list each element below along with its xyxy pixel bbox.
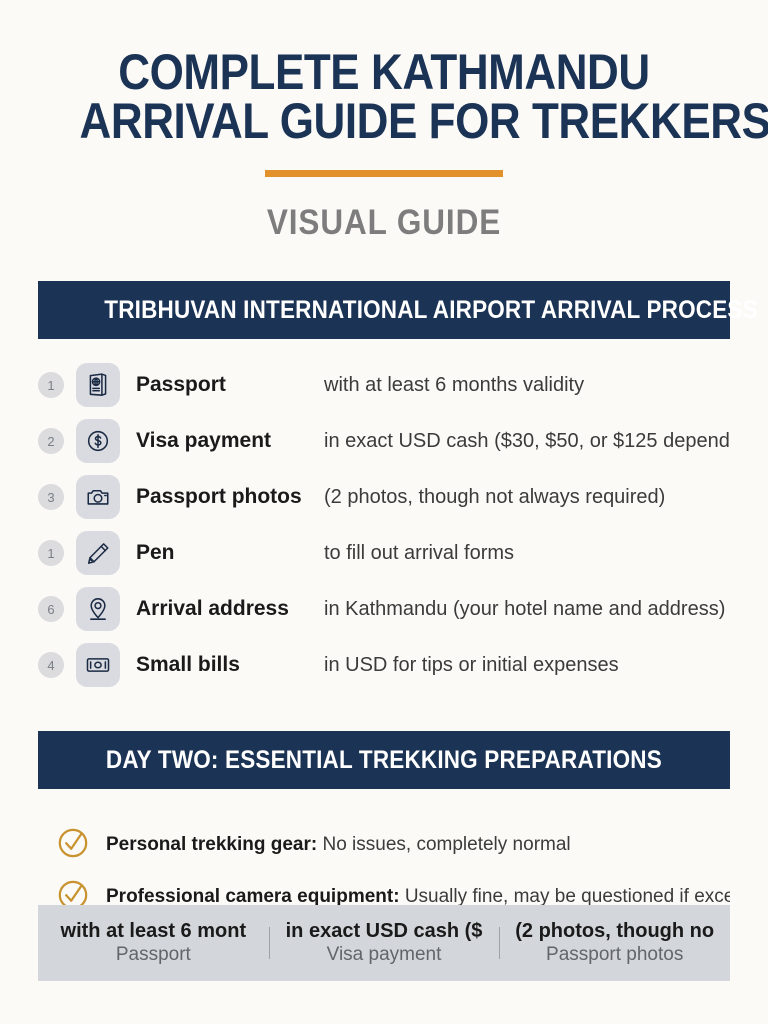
item-description: (2 photos, though not always required) xyxy=(324,486,730,509)
list-item[interactable]: 6 Arrival address in Kathmandu (your hot… xyxy=(38,581,730,637)
footer-stat-cell: (2 photos, though no Passport photos xyxy=(499,919,730,967)
page-title-line-2: ARRIVAL GUIDE FOR TREKKERS xyxy=(80,97,689,146)
page-title-line-1: COMPLETE KATHMANDU xyxy=(80,48,689,97)
footer-stat-label: Passport xyxy=(46,943,261,967)
list-item[interactable]: 1 Pen to fill out arrival forms xyxy=(38,525,730,581)
footer-stat-value: (2 photos, though no xyxy=(507,919,722,943)
pen-icon xyxy=(76,531,120,575)
footer-stat-label: Passport photos xyxy=(507,943,722,967)
list-item[interactable]: 3 Passport photos (2 photos, though not … xyxy=(38,469,730,525)
section-header-arrival-process: TRIBHUVAN INTERNATIONAL AIRPORT ARRIVAL … xyxy=(38,281,730,339)
item-label: Passport xyxy=(136,373,324,397)
gold-divider xyxy=(265,170,503,177)
item-number-badge: 1 xyxy=(38,540,64,566)
item-label: Small bills xyxy=(136,653,324,677)
item-number-badge: 1 xyxy=(38,372,64,398)
footer-stat-cell: with at least 6 mont Passport xyxy=(38,919,269,967)
item-label: Passport photos xyxy=(136,485,324,509)
footer-stat-cell: in exact USD cash ($ Visa payment xyxy=(269,919,500,967)
item-description: to fill out arrival forms xyxy=(324,542,730,565)
page-subtitle: VISUAL GUIDE xyxy=(73,203,696,243)
item-description: in exact USD cash ($30, $50, or $125 dep… xyxy=(324,430,730,453)
check-circle-icon xyxy=(56,826,90,865)
check-item-detail: Usually fine, may be questioned if exces xyxy=(400,886,730,907)
item-number-badge: 3 xyxy=(38,484,64,510)
footer-stat-value: with at least 6 mont xyxy=(46,919,261,943)
dollar-coin-icon xyxy=(76,419,120,463)
item-description: with at least 6 months validity xyxy=(324,374,730,397)
check-item-text: Personal trekking gear: No issues, compl… xyxy=(106,834,571,856)
check-item-detail: No issues, completely normal xyxy=(317,834,570,855)
footer-stat-value: in exact USD cash ($ xyxy=(277,919,492,943)
arrival-checklist: 1 Passport with at least 6 months validi… xyxy=(38,357,730,693)
page-title: COMPLETE KATHMANDU ARRIVAL GUIDE FOR TRE… xyxy=(80,48,689,146)
footer-stat-label: Visa payment xyxy=(277,943,492,967)
banknote-icon xyxy=(76,643,120,687)
item-label: Visa payment xyxy=(136,429,324,453)
title-block: COMPLETE KATHMANDU ARRIVAL GUIDE FOR TRE… xyxy=(38,0,730,243)
infographic-poster: COMPLETE KATHMANDU ARRIVAL GUIDE FOR TRE… xyxy=(0,0,768,1024)
passport-icon xyxy=(76,363,120,407)
check-item-term: Professional camera equipment: xyxy=(106,886,400,907)
camera-icon xyxy=(76,475,120,519)
item-description: in USD for tips or initial expenses xyxy=(324,654,730,677)
item-number-badge: 4 xyxy=(38,652,64,678)
item-description: in Kathmandu (your hotel name and addres… xyxy=(324,598,730,621)
item-number-badge: 6 xyxy=(38,596,64,622)
list-item[interactable]: 4 Small bills in USD for tips or initial… xyxy=(38,637,730,693)
section-header-arrival-process-label: TRIBHUVAN INTERNATIONAL AIRPORT ARRIVAL … xyxy=(104,296,757,325)
check-item-term: Personal trekking gear: xyxy=(106,834,317,855)
footer-summary-bar: with at least 6 mont Passport in exact U… xyxy=(38,905,730,981)
item-label: Arrival address xyxy=(136,597,324,621)
list-item[interactable]: Personal trekking gear: No issues, compl… xyxy=(38,819,730,871)
section-header-day-two: DAY TWO: ESSENTIAL TREKKING PREPARATIONS xyxy=(38,731,730,789)
item-number-badge: 2 xyxy=(38,428,64,454)
item-label: Pen xyxy=(136,541,324,565)
location-pin-icon xyxy=(76,587,120,631)
section-header-day-two-label: DAY TWO: ESSENTIAL TREKKING PREPARATIONS xyxy=(106,746,662,775)
list-item[interactable]: 1 Passport with at least 6 months validi… xyxy=(38,357,730,413)
list-item[interactable]: 2 Visa payment in exact USD cash ($30, $… xyxy=(38,413,730,469)
